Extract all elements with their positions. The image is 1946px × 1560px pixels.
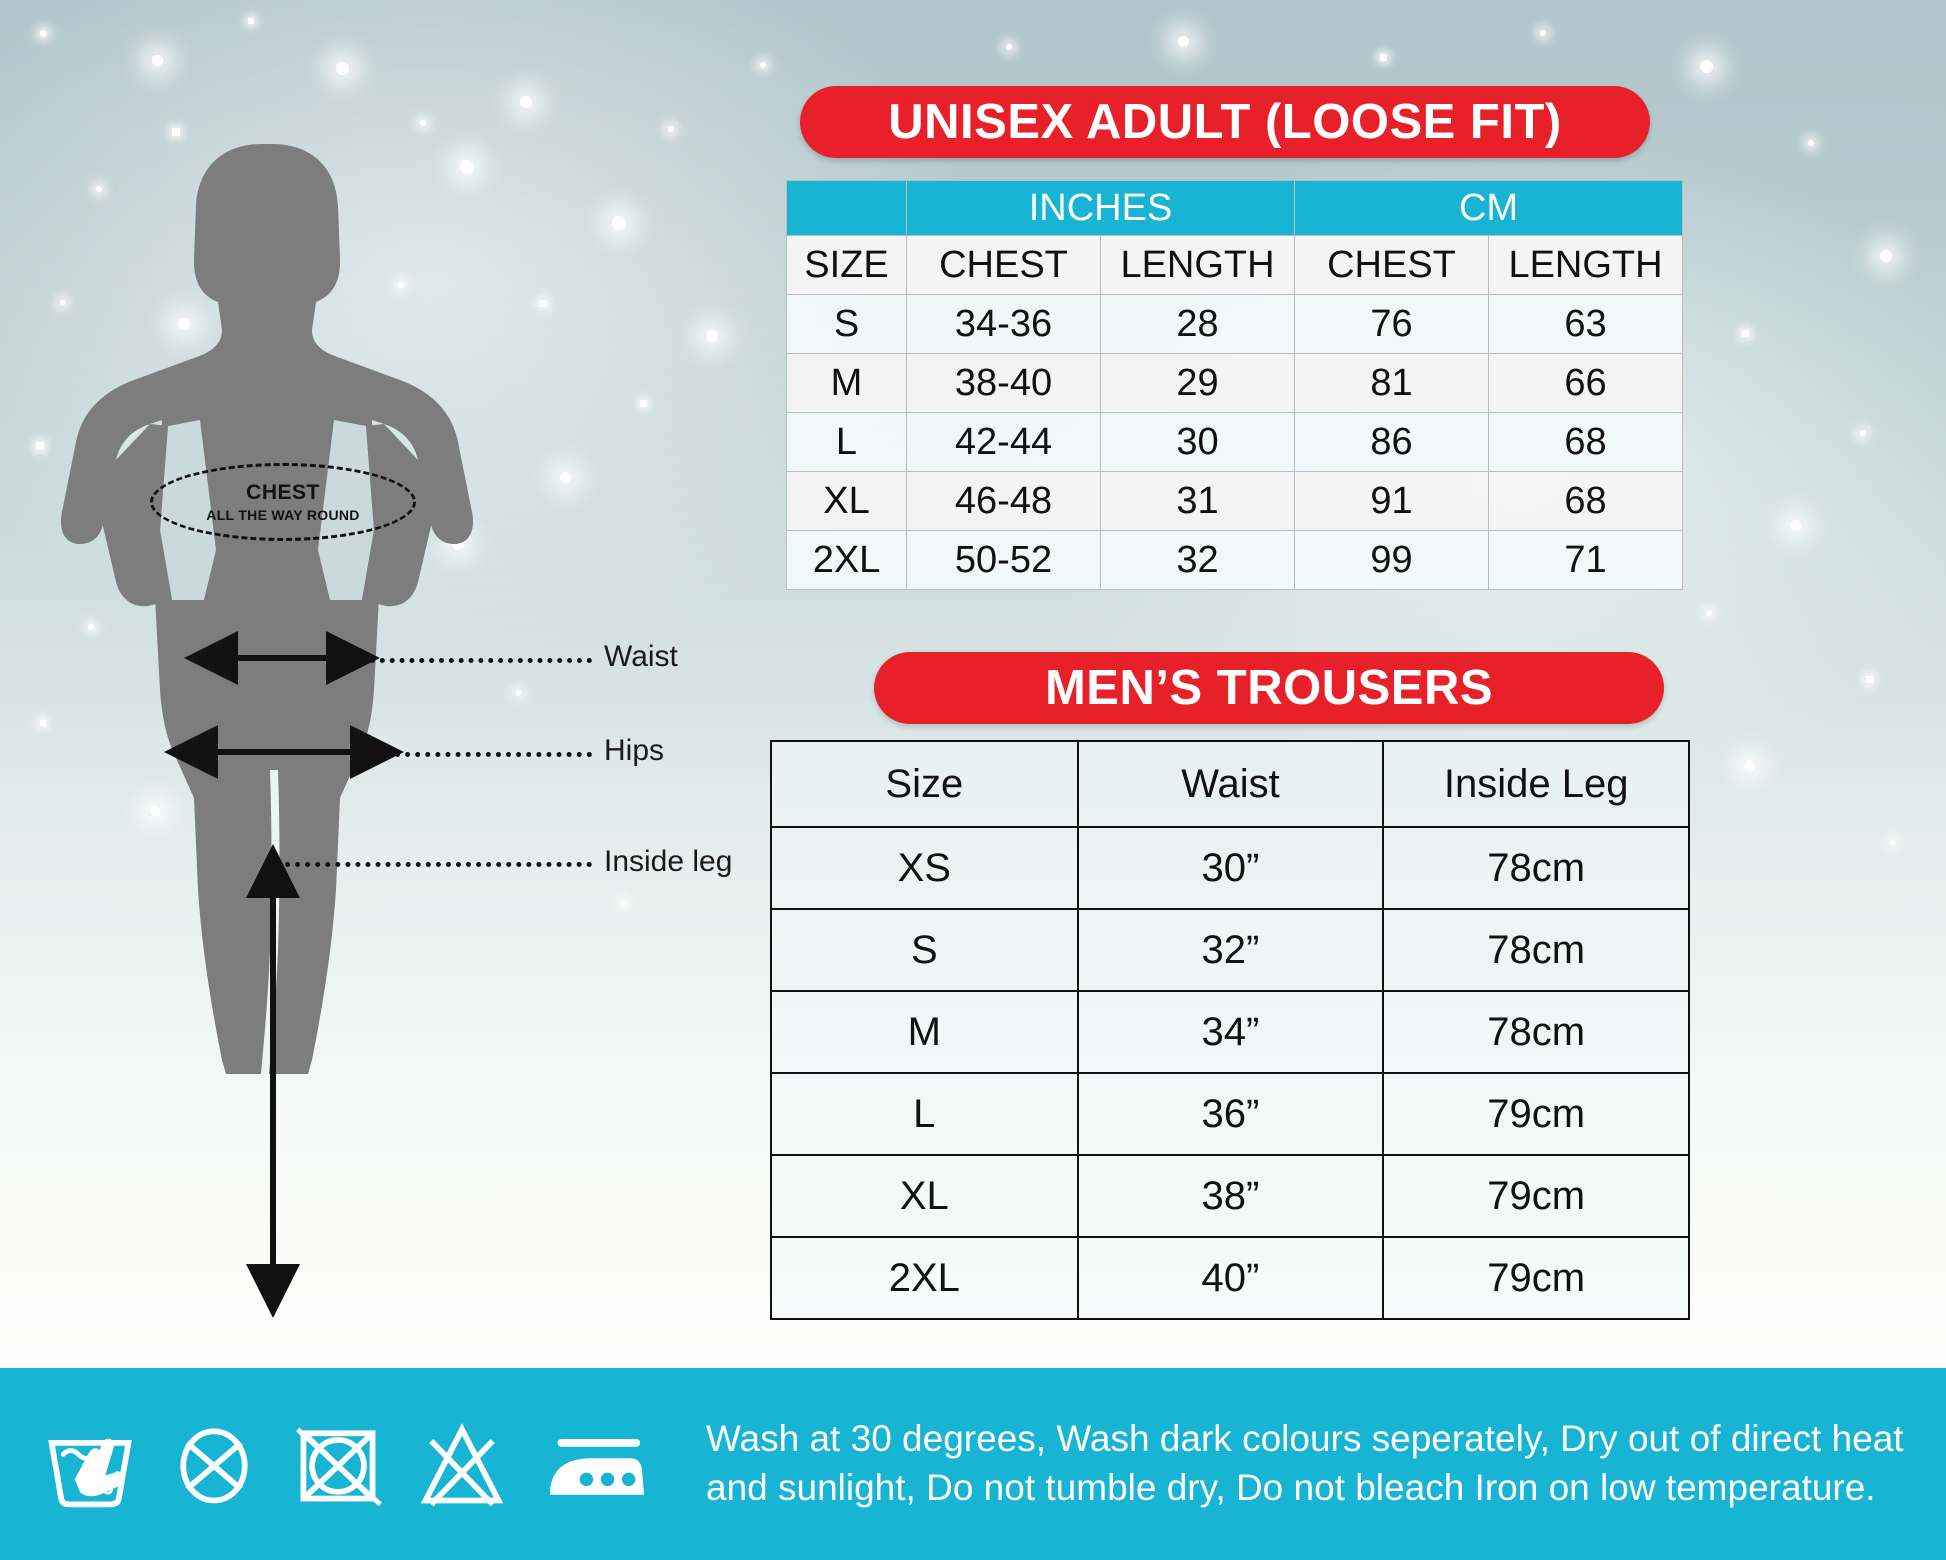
chest-callout-line1: CHEST <box>246 481 320 505</box>
cell-length-cm: 66 <box>1489 354 1683 413</box>
cell-length-cm: 63 <box>1489 295 1683 354</box>
table-row: XL 46-48 31 91 68 <box>787 472 1683 531</box>
group-header-cm: CM <box>1295 181 1683 236</box>
cell-size: L <box>771 1073 1078 1155</box>
table-row: M 34” 78cm <box>771 991 1689 1073</box>
cell-size: S <box>787 295 907 354</box>
cell-size: M <box>771 991 1078 1073</box>
cell-size: 2XL <box>771 1237 1078 1319</box>
unisex-adult-banner: UNISEX ADULT (LOOSE FIT) <box>800 86 1650 158</box>
cell-inside-leg: 78cm <box>1383 827 1689 909</box>
mens-trousers-table: Size Waist Inside Leg XS 30” 78cm S 32” … <box>770 740 1690 1320</box>
inside-leg-label: Inside leg <box>604 845 732 879</box>
chest-callout: CHEST ALL THE WAY ROUND <box>150 463 416 541</box>
hand-wash-30-icon: 30 <box>42 1416 138 1512</box>
col-header-waist: Waist <box>1078 741 1384 827</box>
iron-low-temperature-icon <box>538 1416 654 1512</box>
cell-size: S <box>771 909 1078 991</box>
col-header-length-in: LENGTH <box>1101 236 1295 295</box>
cell-chest-in: 38-40 <box>907 354 1101 413</box>
group-header-inches: INCHES <box>907 181 1295 236</box>
cell-inside-leg: 79cm <box>1383 1237 1689 1319</box>
cell-inside-leg: 78cm <box>1383 909 1689 991</box>
cell-waist: 30” <box>1078 827 1384 909</box>
cell-chest-in: 50-52 <box>907 531 1101 590</box>
cell-length-in: 30 <box>1101 413 1295 472</box>
cell-waist: 38” <box>1078 1155 1384 1237</box>
cell-chest-cm: 99 <box>1295 531 1489 590</box>
cell-length-cm: 68 <box>1489 413 1683 472</box>
do-not-tumble-dry-icon <box>290 1416 386 1512</box>
table-row: M 38-40 29 81 66 <box>787 354 1683 413</box>
cell-waist: 32” <box>1078 909 1384 991</box>
cell-chest-cm: 91 <box>1295 472 1489 531</box>
cell-length-in: 32 <box>1101 531 1295 590</box>
hips-lead-line <box>395 752 592 757</box>
care-icon-group: 30 <box>0 1416 654 1512</box>
cell-length-cm: 71 <box>1489 531 1683 590</box>
table-row: L 36” 79cm <box>771 1073 1689 1155</box>
cell-inside-leg: 79cm <box>1383 1155 1689 1237</box>
cell-length-in: 31 <box>1101 472 1295 531</box>
cell-chest-in: 46-48 <box>907 472 1101 531</box>
cell-length-cm: 68 <box>1489 472 1683 531</box>
cell-size: XS <box>771 827 1078 909</box>
col-header-inside-leg: Inside Leg <box>1383 741 1689 827</box>
cell-length-in: 28 <box>1101 295 1295 354</box>
care-instructions-text: Wash at 30 degrees, Wash dark colours se… <box>654 1415 1946 1513</box>
hips-label: Hips <box>604 734 664 768</box>
cell-waist: 34” <box>1078 991 1384 1073</box>
cell-chest-cm: 81 <box>1295 354 1489 413</box>
size-chart-page: CHEST ALL THE WAY ROUND Waist Hips Insid… <box>0 0 1946 1560</box>
cell-size: 2XL <box>787 531 907 590</box>
cell-size: XL <box>771 1155 1078 1237</box>
unisex-size-table: INCHES CM SIZE CHEST LENGTH CHEST LENGTH… <box>786 180 1683 590</box>
cell-chest-cm: 76 <box>1295 295 1489 354</box>
col-header-chest-in: CHEST <box>907 236 1101 295</box>
col-header-size: SIZE <box>787 236 907 295</box>
unisex-group-header-row: INCHES CM <box>787 181 1683 236</box>
cell-size: M <box>787 354 907 413</box>
inside-leg-lead-line <box>275 862 592 867</box>
mens-trousers-banner: MEN’S TROUSERS <box>874 652 1664 724</box>
hand-wash-temp-label: 30 <box>89 1474 115 1500</box>
cell-waist: 36” <box>1078 1073 1384 1155</box>
col-header-chest-cm: CHEST <box>1295 236 1489 295</box>
table-row: S 34-36 28 76 63 <box>787 295 1683 354</box>
table-row: XS 30” 78cm <box>771 827 1689 909</box>
cell-chest-in: 34-36 <box>907 295 1101 354</box>
do-not-dry-clean-icon <box>414 1416 510 1512</box>
waist-lead-line <box>370 658 592 663</box>
col-header-length-cm: LENGTH <box>1489 236 1683 295</box>
table-row: 2XL 40” 79cm <box>771 1237 1689 1319</box>
col-header-size: Size <box>771 741 1078 827</box>
table-row: L 42-44 30 86 68 <box>787 413 1683 472</box>
silhouette-path <box>61 144 473 1074</box>
cell-inside-leg: 78cm <box>1383 991 1689 1073</box>
do-not-bleach-icon <box>166 1416 262 1512</box>
trousers-header-row: Size Waist Inside Leg <box>771 741 1689 827</box>
waist-label: Waist <box>604 640 678 674</box>
cell-waist: 40” <box>1078 1237 1384 1319</box>
cell-chest-in: 42-44 <box>907 413 1101 472</box>
table-row: 2XL 50-52 32 99 71 <box>787 531 1683 590</box>
cell-inside-leg: 79cm <box>1383 1073 1689 1155</box>
care-instructions-bar: 30 <box>0 1368 1946 1560</box>
unisex-column-header-row: SIZE CHEST LENGTH CHEST LENGTH <box>787 236 1683 295</box>
table-row: S 32” 78cm <box>771 909 1689 991</box>
cell-length-in: 29 <box>1101 354 1295 413</box>
cell-size: XL <box>787 472 907 531</box>
cell-chest-cm: 86 <box>1295 413 1489 472</box>
cell-size: L <box>787 413 907 472</box>
body-silhouette-figure <box>40 130 510 1080</box>
group-header-blank <box>787 181 907 236</box>
chest-callout-line2: ALL THE WAY ROUND <box>206 507 359 523</box>
table-row: XL 38” 79cm <box>771 1155 1689 1237</box>
